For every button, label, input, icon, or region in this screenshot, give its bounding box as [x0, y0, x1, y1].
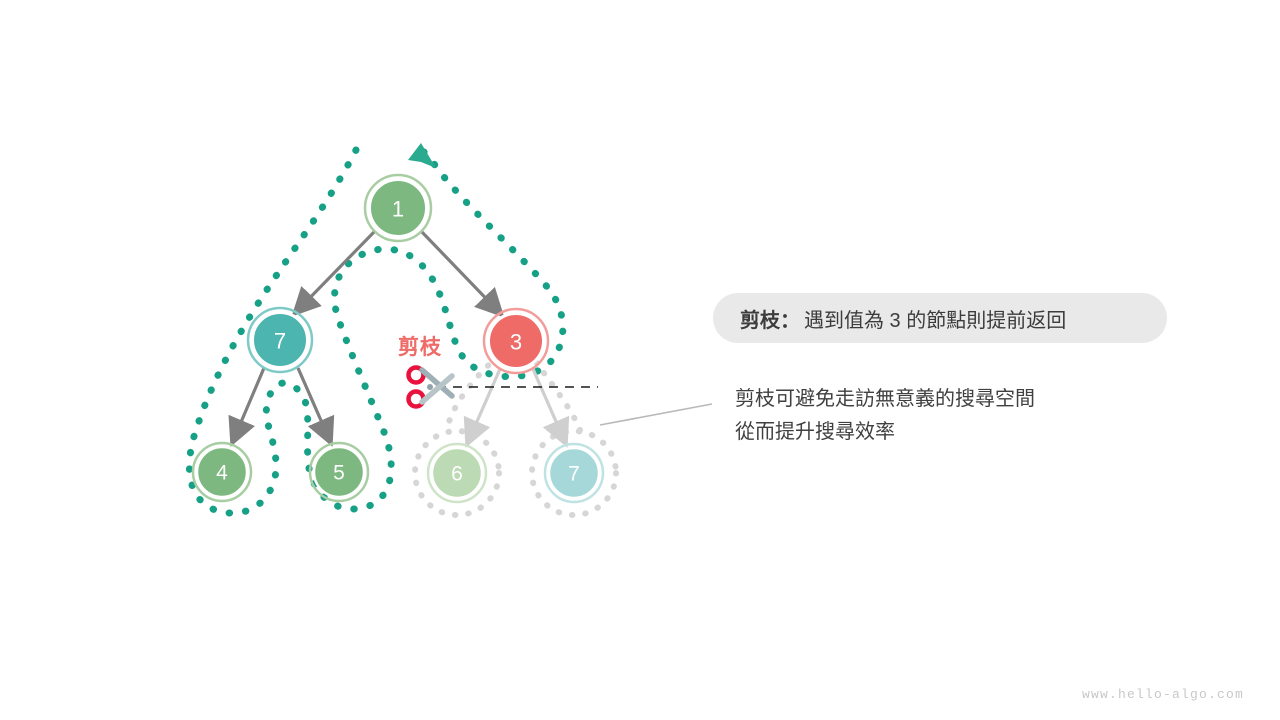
node-n1[interactable]: 1 — [365, 175, 431, 241]
watermark: www.hello-algo.com — [1082, 687, 1244, 702]
prune-badge: 剪枝： 遇到值為 3 的節點則提前返回 — [713, 293, 1167, 343]
node-label: 4 — [216, 462, 228, 485]
node-label: 6 — [451, 463, 463, 486]
caption: 剪枝可避免走訪無意義的搜尋空間 從而提升搜尋效率 — [735, 383, 1035, 449]
caption-line-1: 剪枝可避免走訪無意義的搜尋空間 — [735, 383, 1035, 416]
node-n6[interactable]: 6 — [428, 444, 486, 502]
prune-badge-text: 遇到值為 3 的節點則提前返回 — [804, 304, 1066, 333]
tree-svg: 1 7 3 4 5 6 7 — [0, 0, 1280, 720]
prune-badge-title: 剪枝： — [740, 304, 800, 333]
node-label: 1 — [392, 197, 404, 222]
scissors-icon — [409, 368, 453, 407]
leader-line — [600, 404, 712, 425]
edge-n7l-n4 — [233, 368, 264, 441]
edge-n1-n7l — [296, 231, 375, 312]
node-label: 7 — [568, 463, 580, 486]
edge-n3-n7r — [533, 369, 565, 442]
node-label: 3 — [510, 330, 522, 355]
caption-line-2: 從而提升搜尋效率 — [735, 416, 1035, 449]
node-n5[interactable]: 5 — [310, 443, 368, 501]
traversal-arrowhead — [408, 143, 436, 168]
node-n7-right[interactable]: 7 — [545, 444, 603, 502]
edge-n1-n3 — [421, 231, 500, 313]
node-label: 5 — [333, 462, 345, 485]
node-n3[interactable]: 3 — [484, 309, 548, 373]
prune-label: 剪枝 — [398, 331, 442, 361]
edge-n3-n6 — [468, 369, 500, 442]
diagram-canvas: 1 7 3 4 5 6 7 — [0, 0, 1280, 720]
node-label: 7 — [274, 329, 286, 354]
node-n7-left[interactable]: 7 — [248, 308, 312, 372]
node-n4[interactable]: 4 — [193, 443, 251, 501]
